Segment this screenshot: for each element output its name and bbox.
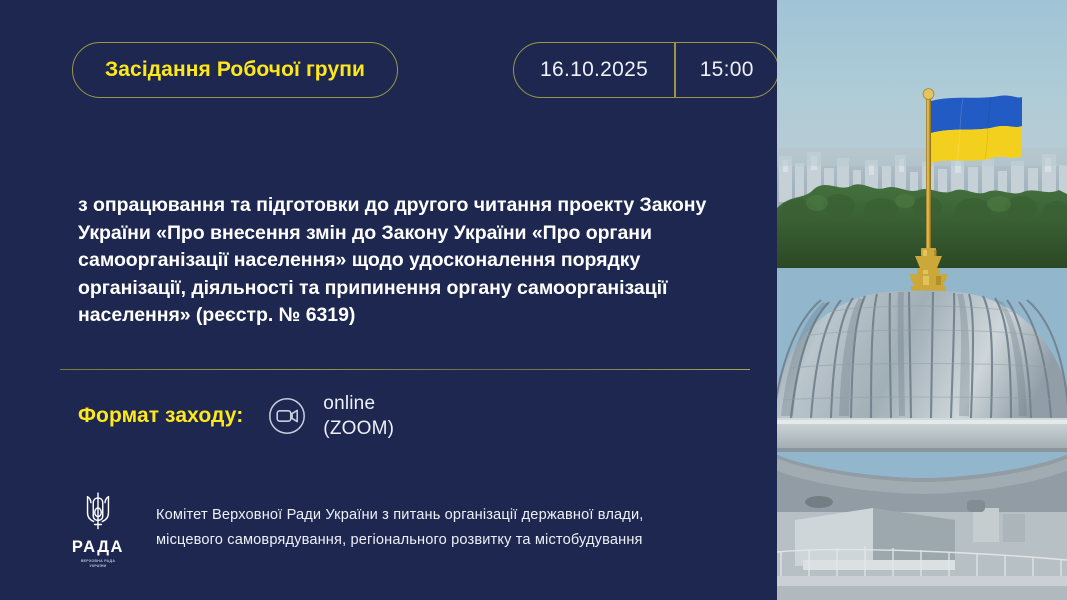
rada-logo-subtitle-line2: УКРАЇНИ <box>89 564 106 568</box>
event-title-text: Засідання Робочої групи <box>105 58 365 82</box>
footer: РАДА ВЕРХОВНА РАДА УКРАЇНИ Комітет Верхо… <box>60 488 760 568</box>
event-date: 16.10.2025 <box>514 43 674 97</box>
rada-logo: РАДА ВЕРХОВНА РАДА УКРАЇНИ <box>60 488 136 568</box>
rada-logo-subtitle-line1: ВЕРХОВНА РАДА <box>81 559 115 563</box>
content-panel: Засідання Робочої групи 16.10.2025 15:00… <box>0 0 777 600</box>
format-value: online (ZOOM) <box>323 391 394 441</box>
presentation-slide: Засідання Робочої групи 16.10.2025 15:00… <box>0 0 1067 600</box>
event-time: 15:00 <box>676 43 778 97</box>
format-label: Формат заходу: <box>78 404 243 428</box>
event-description: з опрацювання та підготовки до другого ч… <box>78 192 718 330</box>
rada-logo-word: РАДА <box>72 538 124 557</box>
datetime-badge: 16.10.2025 15:00 <box>513 42 779 98</box>
committee-name-line1: Комітет Верховної Ради України з питань … <box>156 507 643 523</box>
ukraine-trident-icon <box>79 490 117 537</box>
section-divider <box>60 369 750 370</box>
video-camera-icon <box>265 394 309 438</box>
format-value-line2: (ZOOM) <box>323 418 394 439</box>
format-value-line1: online <box>323 393 375 414</box>
parliament-dome-photo <box>777 0 1067 600</box>
format-row: Формат заходу: online (ZOOM) <box>78 385 718 447</box>
committee-name: Комітет Верховної Ради України з питань … <box>156 503 643 553</box>
header-row: Засідання Робочої групи 16.10.2025 15:00 <box>0 42 777 100</box>
rada-logo-subtitle: ВЕРХОВНА РАДА УКРАЇНИ <box>81 559 115 568</box>
committee-name-line2: місцевого самоврядування, регіонального … <box>156 532 643 548</box>
event-title-badge: Засідання Робочої групи <box>72 42 398 98</box>
